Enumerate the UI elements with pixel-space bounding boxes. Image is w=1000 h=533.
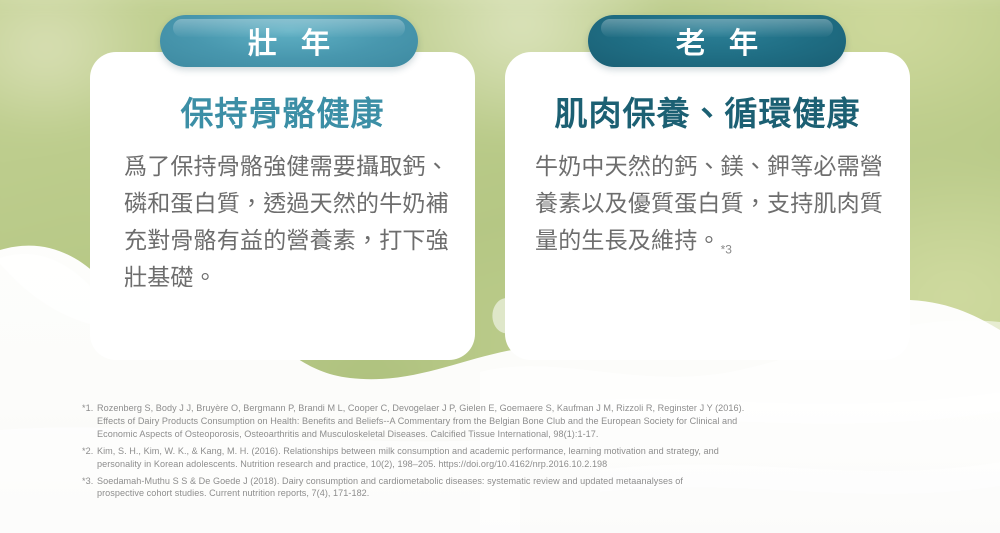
badge-senior-age: 老 年 xyxy=(588,15,846,67)
footnote-marker: *1. xyxy=(82,402,97,441)
footnote-line: Kim, S. H., Kim, W. K., & Kang, M. H. (2… xyxy=(97,445,962,458)
card-prime-body: 保持骨骼健康 爲了保持骨骼強健需要攝取鈣、磷和蛋白質，透過天然的牛奶補充對骨骼有… xyxy=(90,94,475,297)
card-senior-age: 肌肉保養、循環健康 牛奶中天然的鈣、鎂、鉀等必需營養素以及優質蛋白質，支持肌肉質… xyxy=(505,52,910,360)
footnote-line: Rozenberg S, Body J J, Bruyère O, Bergma… xyxy=(97,402,962,415)
footnote-line: Economic Aspects of Osteoporosis, Osteoa… xyxy=(97,428,962,441)
card-prime-text: 爲了保持骨骼強健需要攝取鈣、磷和蛋白質，透過天然的牛奶補充對骨骼有益的營養素，打… xyxy=(110,148,455,297)
footnote-line: personality in Korean adolescents. Nutri… xyxy=(97,458,962,471)
card-senior-text: 牛奶中天然的鈣、鎂、鉀等必需營養素以及優質蛋白質，支持肌肉質量的生長及維持。*3 xyxy=(525,148,890,261)
card-senior-body: 肌肉保養、循環健康 牛奶中天然的鈣、鎂、鉀等必需營養素以及優質蛋白質，支持肌肉質… xyxy=(505,94,910,260)
card-senior-text-body: 牛奶中天然的鈣、鎂、鉀等必需營養素以及優質蛋白質，支持肌肉質量的生長及維持。 xyxy=(535,153,883,254)
footnote-item: *3.Soedamah-Muthu S S & De Goede J (2018… xyxy=(82,475,962,501)
footnote-citation-text: Rozenberg S, Body J J, Bruyère O, Bergma… xyxy=(97,402,962,441)
card-group: 保持骨骼健康 爲了保持骨骼強健需要攝取鈣、磷和蛋白質，透過天然的牛奶補充對骨骼有… xyxy=(0,0,1000,400)
footnote-citation-text: Kim, S. H., Kim, W. K., & Kang, M. H. (2… xyxy=(97,445,962,471)
footnote-marker: *2. xyxy=(82,445,97,471)
card-senior-footnote-ref: *3 xyxy=(721,243,732,257)
card-prime-age: 保持骨骼健康 爲了保持骨骼強健需要攝取鈣、磷和蛋白質，透過天然的牛奶補充對骨骼有… xyxy=(90,52,475,360)
footnote-list: *1.Rozenberg S, Body J J, Bruyère O, Ber… xyxy=(82,402,962,504)
badge-prime-label: 壯 年 xyxy=(240,20,338,62)
card-senior-title: 肌肉保養、循環健康 xyxy=(525,94,890,134)
badge-prime-age: 壯 年 xyxy=(160,15,418,67)
badge-senior-label: 老 年 xyxy=(668,20,766,62)
footnote-line: Effects of Dairy Products Consumption on… xyxy=(97,415,962,428)
footnote-line: Soedamah-Muthu S S & De Goede J (2018). … xyxy=(97,475,962,488)
footnote-item: *2.Kim, S. H., Kim, W. K., & Kang, M. H.… xyxy=(82,445,962,471)
infographic-stage: 保持骨骼健康 爲了保持骨骼強健需要攝取鈣、磷和蛋白質，透過天然的牛奶補充對骨骼有… xyxy=(0,0,1000,533)
footnote-marker: *3. xyxy=(82,475,97,501)
footnote-citation-text: Soedamah-Muthu S S & De Goede J (2018). … xyxy=(97,475,962,501)
footnote-item: *1.Rozenberg S, Body J J, Bruyère O, Ber… xyxy=(82,402,962,441)
footnote-line: prospective cohort studies. Current nutr… xyxy=(97,487,962,500)
card-prime-title: 保持骨骼健康 xyxy=(110,94,455,134)
